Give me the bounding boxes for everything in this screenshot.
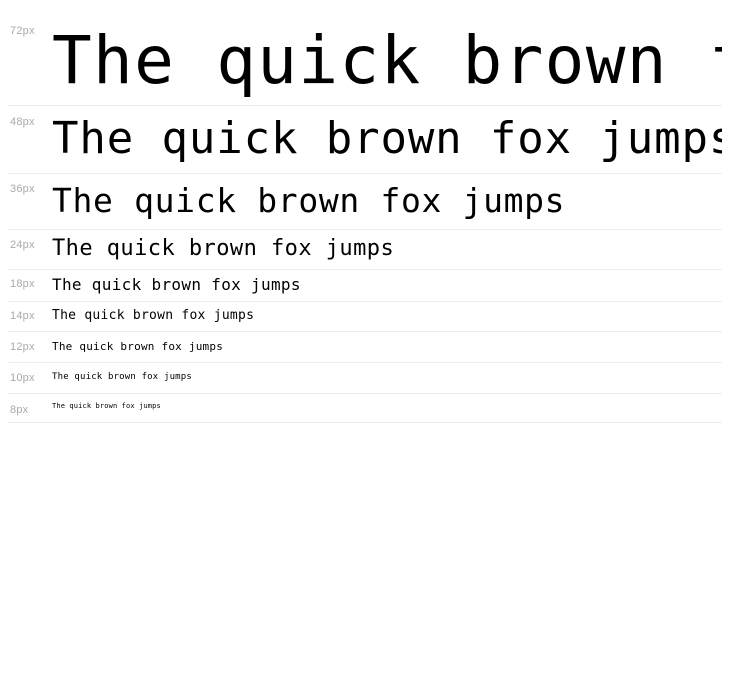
size-label-12px: 12px — [10, 342, 35, 353]
size-label-10px: 10px — [10, 373, 35, 384]
sample-text-10px: The quick brown fox jumps — [52, 363, 722, 392]
specimen-row-36px: 36px The quick brown fox jumps — [8, 174, 722, 230]
specimen-row-18px: 18px The quick brown fox jumps — [8, 270, 722, 302]
sample-text-48px: The quick brown fox jumps — [52, 106, 722, 172]
size-label-48px: 48px — [10, 117, 35, 128]
sample-text-24px: The quick brown fox jumps — [52, 230, 722, 268]
sample-text-14px: The quick brown fox jumps — [52, 302, 722, 330]
specimen-row-10px: 10px The quick brown fox jumps — [8, 363, 722, 394]
size-label-36px: 36px — [10, 184, 35, 195]
sample-text-72px: The quick brown fox jumps — [52, 18, 722, 104]
size-label-24px: 24px — [10, 240, 35, 251]
specimen-row-24px: 24px The quick brown fox jumps — [8, 230, 722, 270]
specimen-row-14px: 14px The quick brown fox jumps — [8, 302, 722, 332]
specimen-row-48px: 48px The quick brown fox jumps — [8, 106, 722, 174]
sample-text-8px: The quick brown fox jumps — [52, 394, 722, 419]
sample-text-36px: The quick brown fox jumps — [52, 174, 722, 228]
sample-text-18px: The quick brown fox jumps — [52, 270, 722, 300]
specimen-row-8px: 8px The quick brown fox jumps — [8, 394, 722, 423]
size-label-14px: 14px — [10, 311, 35, 322]
sample-text-12px: The quick brown fox jumps — [52, 332, 722, 361]
specimen-row-72px: 72px The quick brown fox jumps — [8, 18, 722, 106]
size-label-8px: 8px — [10, 405, 28, 416]
font-specimen-list: 72px The quick brown fox jumps 48px The … — [0, 0, 730, 423]
size-label-18px: 18px — [10, 279, 35, 290]
specimen-row-12px: 12px The quick brown fox jumps — [8, 332, 722, 363]
size-label-72px: 72px — [10, 26, 35, 37]
